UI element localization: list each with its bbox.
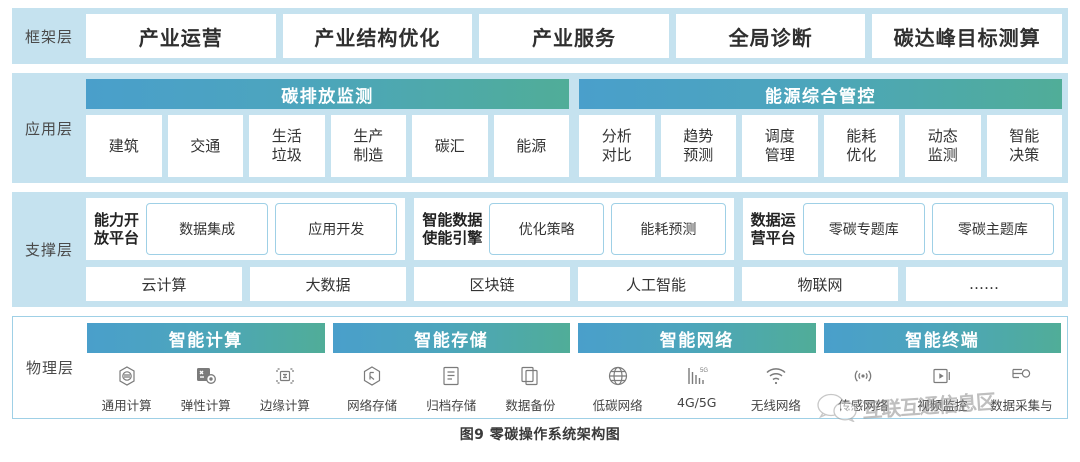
physical-layer-label: 物理层 <box>13 317 87 418</box>
support-base-item[interactable]: …… <box>906 267 1062 301</box>
physical-cell[interactable]: 无线网络 <box>736 363 815 414</box>
group-header: 智能网络 <box>578 323 816 353</box>
app-cell[interactable]: 建筑 <box>86 115 162 177</box>
platform-title: 智能数据 使能引擎 <box>422 211 482 247</box>
application-cells: 分析 对比 趋势 预测 调度 管理 能耗 优化 动态 监测 智能 决策 <box>579 115 1062 177</box>
physical-cell[interactable]: 数据采集与 <box>982 363 1061 414</box>
physical-cell-label: 数据采集与 <box>990 395 1053 414</box>
app-cell[interactable]: 生活 垃圾 <box>249 115 325 177</box>
group-header: 智能终端 <box>824 323 1062 353</box>
physical-cell-label: 弹性计算 <box>181 395 231 414</box>
physical-layer-body: 智能计算 通用计算 <box>87 317 1067 418</box>
app-cell[interactable]: 动态 监测 <box>905 115 981 177</box>
physical-cell[interactable]: 网络存储 <box>333 363 412 414</box>
app-cell[interactable]: 趋势 预测 <box>661 115 737 177</box>
app-cell[interactable]: 碳汇 <box>412 115 488 177</box>
app-cell[interactable]: 能源 <box>494 115 570 177</box>
app-cell[interactable]: 生产 制造 <box>331 115 407 177</box>
globe-icon <box>605 363 631 389</box>
architecture-diagram: 框架层 产业运营 产业结构优化 产业服务 全局诊断 碳达峰目标测算 应用层 碳排… <box>0 0 1080 462</box>
application-layer: 应用层 碳排放监测 建筑 交通 生活 垃圾 生产 制造 碳汇 能源 能源综合管控… <box>12 73 1068 183</box>
group-header: 能源综合管控 <box>579 79 1062 109</box>
physical-cell[interactable]: 5G 4G/5G <box>657 363 736 414</box>
physical-cell-label: 传感网络 <box>838 395 888 414</box>
app-cell[interactable]: 分析 对比 <box>579 115 655 177</box>
physical-layer: 物理层 智能计算 通用计算 <box>12 316 1068 419</box>
group-header: 智能计算 <box>87 323 325 353</box>
support-base-item[interactable]: 人工智能 <box>578 267 734 301</box>
application-group-energy-control: 能源综合管控 分析 对比 趋势 预测 调度 管理 能耗 优化 动态 监测 智能 … <box>579 79 1062 177</box>
physical-group-terminal: 智能终端 传感网络 <box>824 323 1062 414</box>
physical-cells: 传感网络 视频监控 <box>824 363 1062 414</box>
physical-cell-label: 通用计算 <box>102 395 152 414</box>
network-storage-icon <box>359 363 385 389</box>
physical-group-compute: 智能计算 通用计算 <box>87 323 325 414</box>
framework-layer-body: 产业运营 产业结构优化 产业服务 全局诊断 碳达峰目标测算 <box>86 8 1068 64</box>
support-layer-label: 支撑层 <box>12 192 86 307</box>
video-monitor-icon <box>929 363 955 389</box>
physical-cell-label: 边缘计算 <box>260 395 310 414</box>
support-base-item[interactable]: 区块链 <box>414 267 570 301</box>
support-base-item[interactable]: 云计算 <box>86 267 242 301</box>
physical-cells: 网络存储 归档存储 <box>333 363 571 414</box>
platform-item[interactable]: 零碳主题库 <box>932 203 1054 255</box>
platform-title: 能力开 放平台 <box>94 211 139 247</box>
application-layer-body: 碳排放监测 建筑 交通 生活 垃圾 生产 制造 碳汇 能源 能源综合管控 分析 … <box>86 73 1068 183</box>
application-cells: 建筑 交通 生活 垃圾 生产 制造 碳汇 能源 <box>86 115 569 177</box>
framework-layer: 框架层 产业运营 产业结构优化 产业服务 全局诊断 碳达峰目标测算 <box>12 8 1068 64</box>
physical-cell[interactable]: 低碳网络 <box>578 363 657 414</box>
data-backup-icon <box>517 363 543 389</box>
support-base-item[interactable]: 物联网 <box>742 267 898 301</box>
physical-cell[interactable]: 通用计算 <box>87 363 166 414</box>
framework-box[interactable]: 碳达峰目标测算 <box>872 14 1062 58</box>
edge-compute-icon <box>272 363 298 389</box>
application-layer-label: 应用层 <box>12 73 86 183</box>
platform-item[interactable]: 应用开发 <box>275 203 397 255</box>
physical-group-network: 智能网络 低碳网络 <box>578 323 816 414</box>
app-cell[interactable]: 交通 <box>168 115 244 177</box>
physical-cell-label: 数据备份 <box>505 395 555 414</box>
support-platform-capability: 能力开 放平台 数据集成 应用开发 <box>86 198 405 260</box>
physical-cell-label: 4G/5G <box>677 395 717 410</box>
physical-cell-label: 归档存储 <box>426 395 476 414</box>
archive-storage-icon <box>438 363 464 389</box>
physical-cell[interactable]: 边缘计算 <box>245 363 324 414</box>
physical-cell[interactable]: 数据备份 <box>491 363 570 414</box>
physical-cell[interactable]: 视频监控 <box>903 363 982 414</box>
app-cell[interactable]: 智能 决策 <box>987 115 1063 177</box>
physical-cell[interactable]: 归档存储 <box>412 363 491 414</box>
physical-cell-label: 视频监控 <box>917 395 967 414</box>
support-platform-data-engine: 智能数据 使能引擎 优化策略 能耗预测 <box>414 198 733 260</box>
app-cell[interactable]: 调度 管理 <box>742 115 818 177</box>
svg-text:5G: 5G <box>700 368 708 374</box>
support-layer: 支撑层 能力开 放平台 数据集成 应用开发 智能数据 使能引擎 优化策略 能耗预… <box>12 192 1068 307</box>
physical-cell[interactable]: 传感网络 <box>824 363 903 414</box>
support-layer-body: 能力开 放平台 数据集成 应用开发 智能数据 使能引擎 优化策略 能耗预测 数据… <box>86 192 1068 307</box>
support-platform-row: 能力开 放平台 数据集成 应用开发 智能数据 使能引擎 优化策略 能耗预测 数据… <box>86 198 1062 260</box>
group-header: 智能存储 <box>333 323 571 353</box>
figure-caption: 图9 零碳操作系统架构图 <box>12 424 1068 444</box>
platform-item[interactable]: 优化策略 <box>489 203 604 255</box>
wifi-icon <box>763 363 789 389</box>
physical-cell-label: 无线网络 <box>751 395 801 414</box>
group-header: 碳排放监测 <box>86 79 569 109</box>
application-group-carbon-monitoring: 碳排放监测 建筑 交通 生活 垃圾 生产 制造 碳汇 能源 <box>86 79 569 177</box>
physical-cells: 低碳网络 5G 4G/5G <box>578 363 816 414</box>
physical-cell-label: 网络存储 <box>347 395 397 414</box>
support-platform-data-operation: 数据运 营平台 零碳专题库 零碳主题库 <box>743 198 1062 260</box>
framework-box[interactable]: 产业服务 <box>479 14 669 58</box>
platform-title: 数据运 营平台 <box>751 211 796 247</box>
data-acquisition-icon <box>1008 363 1034 389</box>
physical-group-storage: 智能存储 网络存储 <box>333 323 571 414</box>
support-base-row: 云计算 大数据 区块链 人工智能 物联网 …… <box>86 267 1062 301</box>
general-compute-icon <box>114 363 140 389</box>
platform-item[interactable]: 零碳专题库 <box>803 203 925 255</box>
framework-box[interactable]: 产业运营 <box>86 14 276 58</box>
signal-5g-icon: 5G <box>684 363 710 389</box>
platform-item[interactable]: 能耗预测 <box>611 203 726 255</box>
framework-layer-label: 框架层 <box>12 8 86 64</box>
physical-cell-label: 低碳网络 <box>593 395 643 414</box>
framework-box[interactable]: 产业结构优化 <box>283 14 473 58</box>
support-base-item[interactable]: 大数据 <box>250 267 406 301</box>
physical-cell[interactable]: 弹性计算 <box>166 363 245 414</box>
app-cell[interactable]: 能耗 优化 <box>824 115 900 177</box>
physical-cells: 通用计算 弹性计算 <box>87 363 325 414</box>
framework-box[interactable]: 全局诊断 <box>676 14 866 58</box>
elastic-compute-icon <box>193 363 219 389</box>
platform-item[interactable]: 数据集成 <box>146 203 268 255</box>
sensor-icon <box>850 363 876 389</box>
